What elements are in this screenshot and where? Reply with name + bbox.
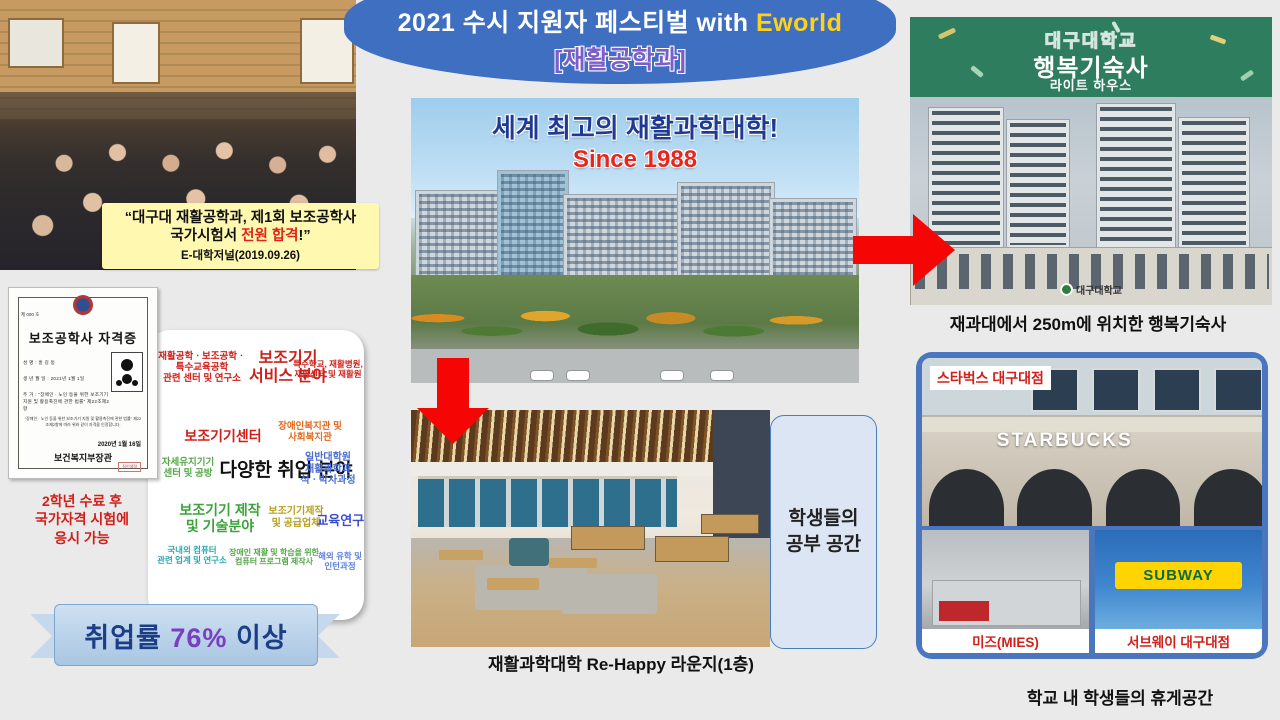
university-logo-text: 대구대학교 — [1076, 282, 1122, 297]
subway-signage: SUBWAY — [1115, 562, 1242, 589]
wordcloud-term: 보조기기 제작및 기술분야 — [168, 502, 272, 534]
certificate-caption: 2학년 수료 후 국가자격 시험에 응시 가능 — [2, 492, 162, 547]
teal-sofa — [509, 538, 549, 566]
starbucks-signage: STARBUCKS — [997, 430, 1133, 452]
certificate-image: 제 000 호 보조공학사 자격증 성 명 : 홍 길 동 생 년 월 일 : … — [8, 287, 158, 479]
side-table — [487, 578, 539, 590]
dorm-tower — [1178, 117, 1250, 249]
parked-car — [567, 371, 589, 380]
entrance-arch — [929, 469, 1004, 526]
employment-rate-text: 취업률 76% 이상 — [84, 616, 287, 655]
study-desk — [701, 514, 759, 534]
quote-source: E-대학저널(2019.09.26) — [181, 247, 300, 263]
employment-rate-ribbon: 취업률 76% 이상 — [30, 600, 340, 670]
dorm-tower — [1096, 103, 1176, 249]
wall-frame — [8, 18, 64, 68]
side-table — [549, 558, 597, 568]
quote-line-1: “대구대 재활공학과, 제1회 보조공학사 — [125, 209, 357, 227]
arrow-down-icon — [417, 358, 489, 444]
store-awning — [939, 601, 989, 621]
study-desk — [571, 526, 645, 550]
certificate-caption-line-2: 국가자격 시험에 — [2, 510, 162, 528]
lounge-bench — [561, 574, 657, 614]
quote-highlight: 전원 합격 — [241, 228, 298, 244]
entrance-arch — [1017, 469, 1092, 526]
facade-window — [1092, 368, 1140, 412]
study-desk — [655, 536, 729, 562]
certificate-seal: 직인생략 — [118, 462, 141, 472]
certificate-row-basis: 주 거 : “장애인ㆍ노인 등을 위한 보조기기 지원 및 활용촉진에 관한 법… — [23, 392, 113, 413]
subway-photo: SUBWAY 서브웨이 대구대점 — [1095, 530, 1262, 653]
title-line-2-department: [재활공학과] — [554, 40, 686, 76]
certificate-note: “장애인ㆍ노인 등을 위한 보조기기 지원 및 활용촉진에 관한 법률” 제22… — [23, 416, 143, 428]
certificate-caption-line-3: 응시 가능 — [2, 529, 162, 547]
wordcloud-term: 장애인복지관 및사회복지관 — [268, 422, 352, 444]
title-line-1: 2021 수시 지원자 페스티벌 with Eworld — [398, 3, 843, 39]
study-space-line-2: 공부 공간 — [786, 534, 861, 555]
campus-since-text: Since 1988 — [411, 146, 859, 174]
certificate-number: 제 000 호 — [21, 312, 39, 318]
wordcloud-term: 재활공학ㆍ보조공학ㆍ특수교육공학관련 센터 및 연구소 — [154, 352, 250, 385]
mies-photo: 미즈(MIES) — [922, 530, 1089, 653]
news-quote-callout: “대구대 재활공학과, 제1회 보조공학사 국가시험서 전원 합격!” E-대학… — [102, 203, 379, 269]
arrow-right-icon — [853, 212, 955, 288]
lounge-photo — [411, 410, 770, 647]
title-highlight-eworld: Eworld — [756, 9, 842, 37]
employment-rate-value: 76% — [170, 623, 227, 653]
lounge-caption: 재활과학대학 Re-Happy 라운지(1층) — [411, 650, 831, 675]
quote-line-2: 국가시험서 전원 합격!” — [170, 227, 310, 245]
study-space-line-1: 학생들의 — [789, 508, 859, 529]
title-banner: 2021 수시 지원자 페스티벌 with Eworld [재활공학과] — [344, 0, 896, 84]
dormitory-caption: 재과대에서 250m에 위치한 행복기숙사 — [896, 310, 1280, 335]
lounge-windows — [418, 476, 676, 526]
entrance-arch — [1194, 469, 1262, 526]
wordcloud-term: 보조기기센터 — [168, 428, 278, 444]
slide-canvas: “대구대 재활공학과, 제1회 보조공학사 국가시험서 전원 합격!” E-대학… — [0, 0, 1280, 720]
dorm-banner-line-3: 라이트 하우스 — [910, 75, 1272, 94]
wordcloud-term: 교육연구 분야 — [306, 514, 364, 529]
dorm-tower — [1006, 119, 1070, 249]
university-logo: 대구대학교 — [1060, 282, 1122, 297]
government-emblem-icon — [73, 295, 93, 315]
certificate-row-name: 성 명 : 홍 길 동 — [23, 360, 55, 366]
dormitory-banner: 대구대학교 행복기숙사 라이트 하우스 — [910, 17, 1272, 97]
certificate-date: 2020년 1월 16일 — [98, 439, 141, 448]
subway-label: 서브웨이 대구대점 — [1095, 629, 1262, 653]
starbucks-label: 스타벅스 대구대점 — [930, 366, 1051, 390]
facade-window — [1214, 368, 1262, 412]
study-space-callout: 학생들의 공부 공간 — [770, 415, 877, 649]
career-fields-wordcloud: 재활공학ㆍ보조공학ㆍ특수교육공학관련 센터 및 연구소보조기기서비스 분야특수학… — [148, 330, 364, 620]
entrance-arch — [1106, 469, 1181, 526]
wordcloud-term: 특수학교, 재활병원,재활센터 및 재활원 — [290, 360, 364, 380]
wordcloud-term: 국내외 컴퓨터관련 업계 및 연구소 — [152, 546, 232, 566]
starbucks-photo: STARBUCKS 스타벅스 대구대점 — [922, 358, 1262, 526]
dormitory-photo: 대구대학교 — [910, 97, 1272, 305]
certificate-caption-line-1: 2학년 수료 후 — [2, 492, 162, 510]
ribbon-body: 취업률 76% 이상 — [54, 604, 318, 666]
certificate-row-birth: 생 년 월 일 : 2021년 1월 1일 — [23, 376, 84, 382]
mies-label: 미즈(MIES) — [922, 629, 1089, 653]
study-space-text: 학생들의 공부 공간 — [786, 506, 861, 557]
university-mark-icon — [1060, 283, 1073, 296]
facade-window — [1153, 368, 1201, 412]
parked-car — [531, 371, 553, 380]
campus-headline-text: 세계 최고의 재활과학대학! — [411, 108, 859, 145]
wordcloud-term: 해외 유학 및인턴과정 — [308, 552, 364, 572]
parked-car — [711, 371, 733, 380]
parked-car — [661, 371, 683, 380]
campus-headline: 세계 최고의 재활과학대학! Since 1988 — [411, 108, 859, 174]
wordcloud-term: 일반대학원재활과학과석ㆍ박사과정 — [292, 452, 364, 487]
amenities-card: STARBUCKS 스타벅스 대구대점 미즈(MIES) SUBWAY 서브웨이… — [916, 352, 1268, 659]
cabin-window — [112, 22, 160, 84]
amenities-caption: 학교 내 학생들의 휴게공간 — [960, 684, 1280, 709]
side-table — [439, 550, 483, 560]
certificate-portrait — [111, 352, 143, 392]
certificate-title: 보조공학사 자격증 — [9, 328, 157, 347]
